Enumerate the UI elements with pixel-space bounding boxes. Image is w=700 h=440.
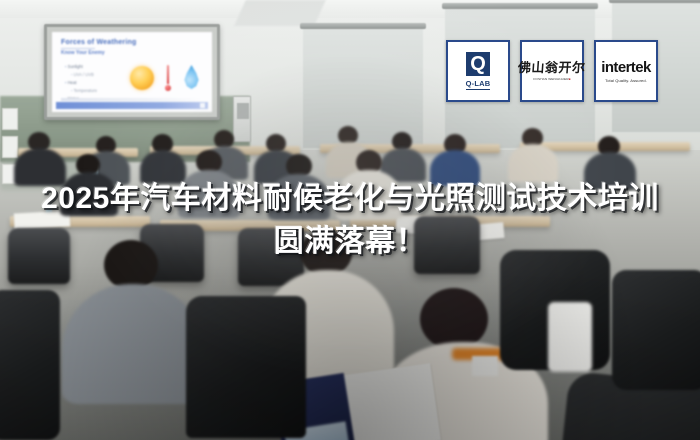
attendee <box>14 148 66 186</box>
slide-footer-bar <box>56 102 208 109</box>
projector-screen: Forces of Weathering Know Your Enemy Sun… <box>44 24 220 120</box>
thermometer-icon <box>165 65 171 91</box>
slide-subtitle: Know Your Enemy <box>61 50 105 56</box>
intertek-wordmark: intertek <box>601 60 650 75</box>
sponsor-logo-strip: Q Q-LAB 佛山翁开尔 FOSHAN WENGKAIER■ intertek… <box>446 40 658 102</box>
intertek-tagline: Total Quality. Assured. <box>605 78 647 83</box>
slide-title: Forces of Weathering <box>61 39 136 46</box>
wengkaier-wordmark: 佛山翁开尔 <box>518 61 586 74</box>
event-banner-image: Forces of Weathering Know Your Enemy Sun… <box>0 0 700 440</box>
blind-rail <box>442 3 598 9</box>
attendee <box>60 172 118 216</box>
office-chair <box>0 290 60 440</box>
attendee <box>178 170 240 218</box>
logo-intertek: intertek Total Quality. Assured. <box>594 40 658 102</box>
attendee-foreground <box>62 284 204 404</box>
slide-bullet: UVA / UVB <box>65 71 117 79</box>
attendee-head <box>420 288 488 350</box>
blind-rail <box>609 0 700 3</box>
attendee <box>336 170 402 220</box>
office-chair <box>186 296 306 438</box>
water-drop-icon <box>183 65 200 89</box>
attendee <box>268 174 330 220</box>
qlab-letter: Q <box>470 54 486 74</box>
slide-footnote <box>61 98 203 101</box>
slide-bullet: Sunlight <box>65 63 117 71</box>
qlab-wordmark: Q-LAB <box>466 79 491 90</box>
attendee <box>584 152 636 190</box>
name-badge <box>472 356 498 376</box>
office-chair <box>414 216 480 274</box>
office-chair <box>8 228 70 284</box>
sun-icon <box>130 66 154 90</box>
attendee <box>508 144 558 182</box>
thermometer-bulb <box>165 85 171 91</box>
jacket-on-chair <box>548 302 592 372</box>
office-chair <box>612 270 700 390</box>
logo-qlab: Q Q-LAB <box>446 40 510 102</box>
logo-foshan-wengkaier: 佛山翁开尔 FOSHAN WENGKAIER■ <box>520 40 584 102</box>
qlab-mark-icon: Q <box>466 52 490 76</box>
blind-rail <box>300 23 426 29</box>
slide-page-marker <box>200 103 205 108</box>
slide-bullet: Heat <box>65 79 117 87</box>
presentation-slide: Forces of Weathering Know Your Enemy Sun… <box>52 32 212 112</box>
wengkaier-subtext: FOSHAN WENGKAIER■ <box>533 77 570 81</box>
wengkaier-subtext-latin: FOSHAN WENGKAIER <box>533 77 568 81</box>
attendee-head <box>104 240 158 290</box>
thermometer-stem <box>167 65 170 84</box>
slide-bullet: Temperature <box>65 87 117 95</box>
audience <box>0 120 700 440</box>
attendee <box>430 150 480 186</box>
slide-title-rule <box>61 48 95 49</box>
wengkaier-accent-mark: ■ <box>569 77 571 81</box>
attendee <box>140 150 186 184</box>
